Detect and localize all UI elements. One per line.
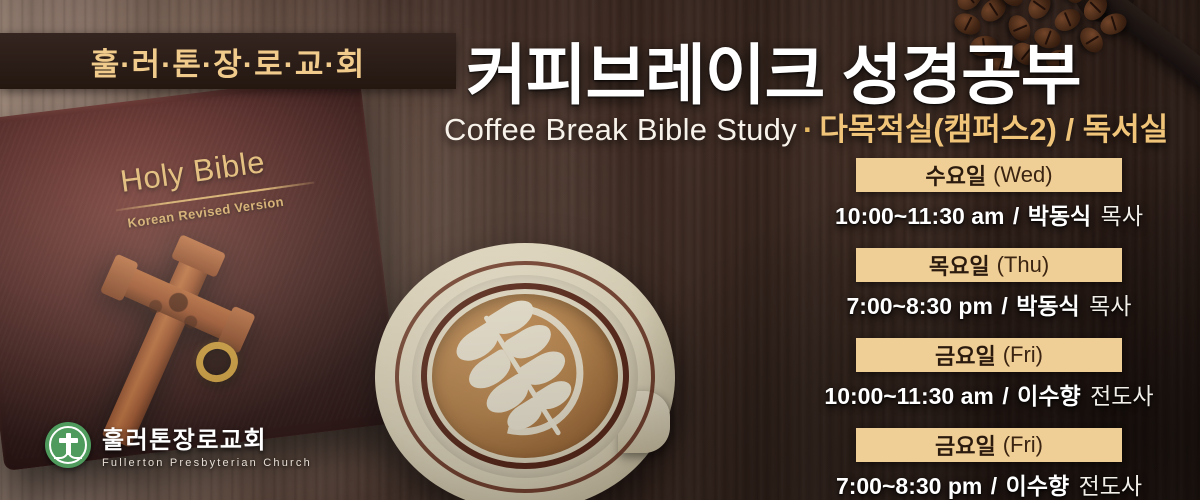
schedule-leader-role: 목사 [1089, 293, 1131, 319]
schedule-day-english: (Fri) [1003, 342, 1043, 368]
schedule-day-korean: 금요일 [935, 429, 996, 461]
schedule-day-english: (Fri) [1003, 432, 1043, 458]
schedule-time: 10:00~11:30 am [824, 383, 993, 409]
schedule-day-korean: 수요일 [925, 159, 986, 191]
schedule-row: 금요일 (Fri) 7:00~8:30 pm / 이수향 전도사 [790, 428, 1188, 500]
subtitle-korean-location: 다목적실(캠퍼스2) / 독서실 [819, 112, 1168, 147]
schedule-detail: 7:00~8:30 pm / 박동식 목사 [790, 287, 1188, 321]
church-logo: 훌러톤장로교회 Fullerton Presbyterian Church [45, 420, 312, 469]
church-name-band: 훌·러·톤·장·로·교·회 [0, 33, 456, 89]
schedule-leader-name: 이수향 [1006, 473, 1069, 499]
schedule-day-label: 목요일 (Thu) [856, 248, 1122, 282]
schedule-day-label: 수요일 (Wed) [856, 158, 1122, 192]
schedule-leader-role: 전도사 [1090, 383, 1153, 409]
schedule-separator: / [1001, 293, 1007, 319]
schedule-detail: 7:00~8:30 pm / 이수향 전도사 [790, 467, 1188, 500]
schedule-leader-role: 전도사 [1079, 473, 1142, 499]
subtitle-separator: · [803, 112, 813, 147]
church-logo-name-english: Fullerton Presbyterian Church [102, 457, 312, 469]
schedule-leader-name: 박동식 [1016, 293, 1079, 319]
schedule-day-label: 금요일 (Fri) [856, 428, 1122, 462]
schedule-day-korean: 목요일 [929, 249, 990, 281]
schedule-time: 10:00~11:30 am [835, 203, 1004, 229]
church-name-band-label: 훌·러·톤·장·로·교·회 [91, 39, 366, 84]
subtitle-english: Coffee Break Bible Study [444, 112, 797, 147]
schedule-separator: / [1002, 383, 1008, 409]
schedule-leader-name: 박동식 [1028, 203, 1091, 229]
schedule-separator: / [1013, 203, 1019, 229]
schedule-row: 목요일 (Thu) 7:00~8:30 pm / 박동식 목사 [790, 248, 1188, 321]
schedule-detail: 10:00~11:30 am / 이수향 전도사 [790, 377, 1188, 411]
schedule-row: 수요일 (Wed) 10:00~11:30 am / 박동식 목사 [790, 158, 1188, 231]
schedule-leader-role: 목사 [1101, 203, 1143, 229]
schedule-detail: 10:00~11:30 am / 박동식 목사 [790, 197, 1188, 231]
schedule-time: 7:00~8:30 pm [836, 473, 982, 499]
schedule-day-english: (Thu) [997, 252, 1050, 278]
coffee-break-bible-study-banner: Holy Bible Korean Revised Version [0, 0, 1200, 500]
schedule-row: 금요일 (Fri) 10:00~11:30 am / 이수향 전도사 [790, 338, 1188, 411]
schedule-time: 7:00~8:30 pm [847, 293, 993, 319]
schedule-day-korean: 금요일 [935, 339, 996, 371]
church-logo-name-korean: 훌러톤장로교회 [102, 420, 312, 455]
church-logo-text: 훌러톤장로교회 Fullerton Presbyterian Church [102, 420, 312, 469]
schedule-separator: / [991, 473, 997, 499]
schedule-day-label: 금요일 (Fri) [856, 338, 1122, 372]
cross-and-book-icon [45, 422, 91, 468]
schedule-day-english: (Wed) [993, 162, 1053, 188]
schedule-list: 수요일 (Wed) 10:00~11:30 am / 박동식 목사 목요일 (T… [790, 158, 1188, 500]
schedule-leader-name: 이수향 [1017, 383, 1080, 409]
page-subtitle: Coffee Break Bible Study·다목적실(캠퍼스2) / 독서… [444, 104, 1168, 149]
